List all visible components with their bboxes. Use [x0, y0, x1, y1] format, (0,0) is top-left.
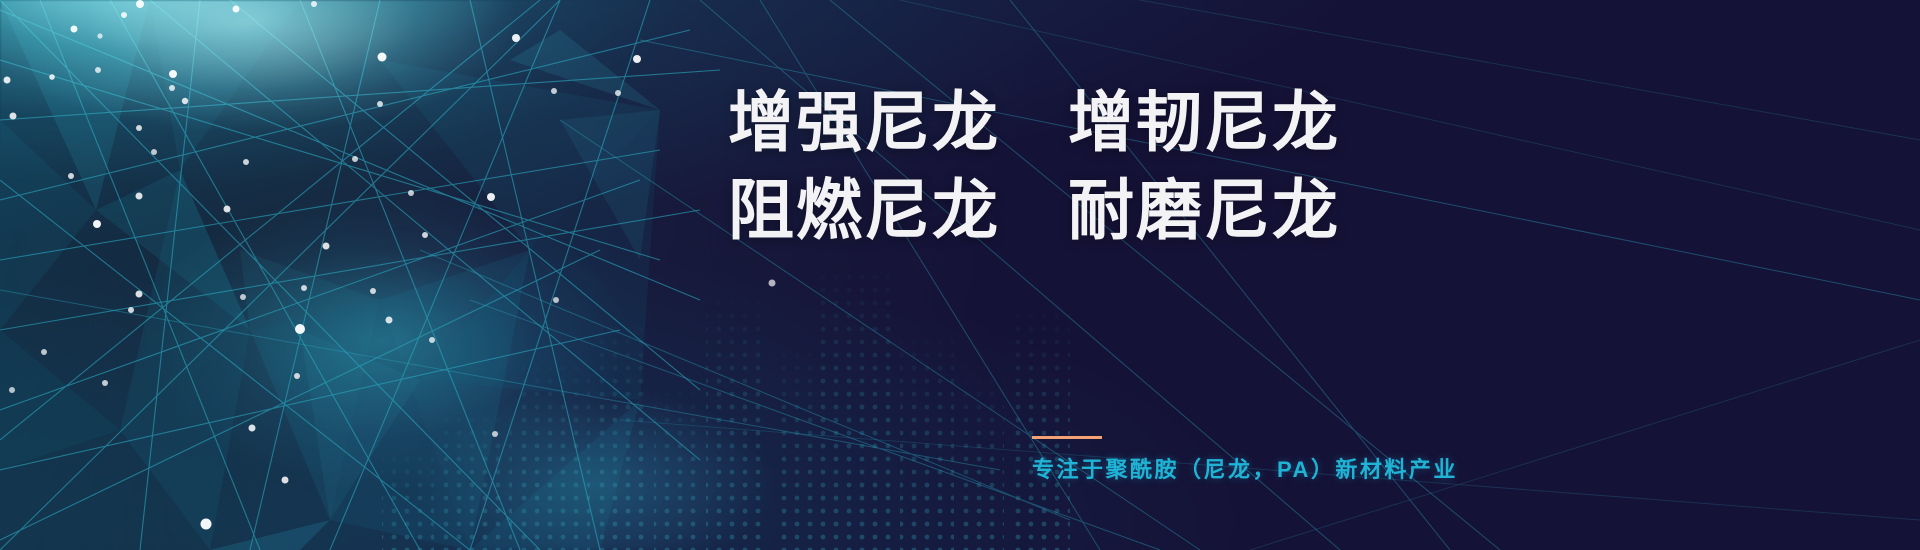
tagline-divider: [1032, 436, 1102, 439]
headline-line-2: 阻燃尼龙 耐磨尼龙: [728, 166, 1728, 254]
headline-line-1: 增强尼龙 增韧尼龙: [728, 78, 1728, 166]
hero-banner: 增强尼龙 增韧尼龙 阻燃尼龙 耐磨尼龙 专注于聚酰胺（尼龙，PA）新材料产业: [0, 0, 1920, 550]
headline-block: 增强尼龙 增韧尼龙 阻燃尼龙 耐磨尼龙: [728, 78, 1728, 254]
tagline-text: 专注于聚酰胺（尼龙，PA）新材料产业: [1032, 452, 1458, 484]
banner-content: 增强尼龙 增韧尼龙 阻燃尼龙 耐磨尼龙 专注于聚酰胺（尼龙，PA）新材料产业: [0, 0, 1920, 550]
